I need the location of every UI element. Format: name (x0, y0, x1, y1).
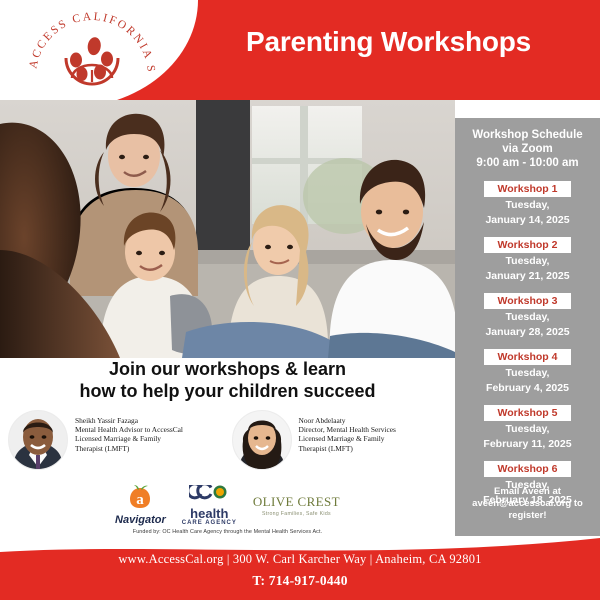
speakers-section: Sheikh Yassir Fazaga Mental Health Advis… (8, 410, 455, 470)
footer-phone[interactable]: T: 714-917-0440 (0, 567, 600, 589)
speaker-credential-line1: Licensed Marriage & Family (75, 434, 183, 443)
schedule-heading-line2: via Zoom (455, 142, 600, 156)
footer-address-line[interactable]: www.AccessCal.org | 300 W. Carl Karcher … (0, 542, 600, 567)
poster-canvas: ACCESS CALIFORNIA SERVICES Parenting Wor… (0, 0, 600, 600)
avatar (8, 410, 68, 470)
footer-contact: www.AccessCal.org | 300 W. Carl Karcher … (0, 542, 600, 600)
avatar (232, 410, 292, 470)
workshop-badge[interactable]: Workshop 4 (484, 349, 572, 365)
sponsor-oc-health-care-agency: health CARE AGENCY (182, 485, 237, 526)
family-photo (0, 100, 455, 358)
schedule-heading: Workshop Schedule via Zoom (455, 118, 600, 156)
headline-line2: how to help your children succeed (0, 380, 455, 402)
workshop-badge[interactable]: Workshop 3 (484, 293, 572, 309)
registration-email-line1: Email Aveen at (455, 486, 600, 498)
headline: Join our workshops & learn how to help y… (0, 358, 455, 402)
speaker-card: Sheikh Yassir Fazaga Mental Health Advis… (8, 410, 232, 470)
speaker-credential-line2: Therapist (LMFT) (75, 444, 183, 453)
page-title: Parenting Workshops (246, 26, 576, 58)
sponsor-subtitle: CARE AGENCY (182, 520, 237, 526)
speaker-role: Director, Mental Health Services (299, 425, 396, 434)
workshop-schedule-panel: Workshop Schedule via Zoom 9:00 am - 10:… (455, 118, 600, 536)
workshop-date: February 4, 2025 (455, 382, 600, 395)
speaker-role: Mental Health Advisor to AccessCal (75, 425, 183, 434)
sponsor-subtitle: Strong Families, Safe Kids (262, 511, 331, 517)
speaker-info: Sheikh Yassir Fazaga Mental Health Advis… (75, 410, 183, 453)
sponsor-name: health (190, 508, 228, 520)
headline-line1: Join our workshops & learn (0, 358, 455, 380)
sponsor-olive-crest: OLIVE CREST Strong Families, Safe Kids (253, 494, 340, 517)
workshop-day: Tuesday, (455, 367, 600, 380)
speaker-name: Noor Abdelaaty (299, 416, 396, 425)
speaker-credential-line1: Licensed Marriage & Family (299, 434, 396, 443)
workshop-badge[interactable]: Workshop 2 (484, 237, 572, 253)
workshop-badge[interactable]: Workshop 1 (484, 181, 572, 197)
speaker-info: Noor Abdelaaty Director, Mental Health S… (299, 410, 396, 453)
workshop-day: Tuesday, (455, 255, 600, 268)
workshop-day: Tuesday, (455, 199, 600, 212)
workshop-badge[interactable]: Workshop 5 (484, 405, 572, 421)
speaker-name: Sheikh Yassir Fazaga (75, 416, 183, 425)
workshop-item: Workshop 2 Tuesday, January 21, 2025 (455, 235, 600, 282)
access-california-services-logo: ACCESS CALIFORNIA SERVICES (18, 8, 168, 100)
workshop-date: January 28, 2025 (455, 326, 600, 339)
workshop-day: Tuesday, (455, 423, 600, 436)
oc-health-mark-icon (189, 485, 229, 508)
registration-email-address[interactable]: aveen@accesscal.org to register! (455, 498, 600, 522)
sponsor-oc-navigator: a Navigator (115, 484, 166, 526)
workshop-badge[interactable]: Workshop 6 (484, 461, 572, 477)
workshop-date: January 14, 2025 (455, 214, 600, 227)
registration-email: Email Aveen at aveen@accesscal.org to re… (455, 486, 600, 522)
oc-orange-mark-icon: a (125, 484, 155, 515)
workshop-list: Workshop 1 Tuesday, January 14, 2025 Wor… (455, 179, 600, 506)
speaker-card: Noor Abdelaaty Director, Mental Health S… (232, 410, 456, 470)
footer: www.AccessCal.org | 300 W. Carl Karcher … (0, 538, 600, 600)
workshop-item: Workshop 3 Tuesday, January 28, 2025 (455, 291, 600, 338)
svg-text:a: a (137, 492, 145, 508)
schedule-heading-line1: Workshop Schedule (455, 128, 600, 142)
sponsor-name: Navigator (115, 514, 166, 526)
workshop-item: Workshop 5 Tuesday, February 11, 2025 (455, 403, 600, 450)
workshop-date: January 21, 2025 (455, 270, 600, 283)
workshop-item: Workshop 1 Tuesday, January 14, 2025 (455, 179, 600, 226)
funding-note: Funded by: OC Health Care Agency through… (0, 529, 455, 535)
sponsor-name: OLIVE CREST (253, 494, 340, 510)
sponsor-logos: a Navigator health CARE AGENCY OLIVE CRE… (0, 484, 455, 526)
workshop-day: Tuesday, (455, 311, 600, 324)
workshop-date: February 11, 2025 (455, 438, 600, 451)
schedule-time: 9:00 am - 10:00 am (455, 156, 600, 171)
workshop-item: Workshop 4 Tuesday, February 4, 2025 (455, 347, 600, 394)
speaker-credential-line2: Therapist (LMFT) (299, 444, 396, 453)
